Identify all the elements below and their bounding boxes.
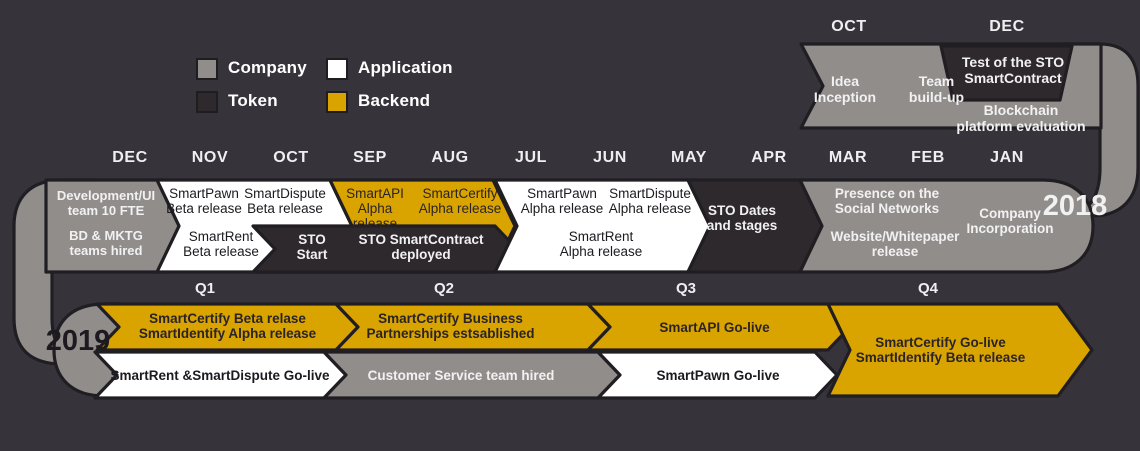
- legend-label-application: Application: [358, 58, 453, 78]
- item-sto-start: STO Start: [282, 232, 342, 262]
- month-label-jun-2018: JUN: [580, 149, 640, 167]
- item-smartapi-alpha: SmartAPI Alpha release: [334, 186, 416, 231]
- item-smartcertify-go-live-smartidentify-beta: SmartCertify Go-live SmartIdentify Beta …: [828, 335, 1053, 365]
- quarter-label-q2: Q2: [414, 280, 474, 297]
- item-smartrent-smartdispute-go-live: SmartRent &SmartDispute Go-live: [110, 368, 330, 383]
- month-label-aug-2018: AUG: [420, 149, 480, 167]
- item-smartpawn-alpha: SmartPawn Alpha release: [518, 186, 606, 216]
- item-idea-inception: Idea Inception: [800, 74, 890, 105]
- item-smartapi-go-live: SmartAPI Go-live: [612, 320, 817, 335]
- month-label-oct-2017: OCT: [809, 18, 889, 36]
- legend-label-company: Company: [228, 58, 307, 78]
- month-label-apr-2018: APR: [739, 149, 799, 167]
- month-label-jul-2018: JUL: [501, 149, 561, 167]
- month-label-nov-2018: NOV: [180, 149, 240, 167]
- legend-label-backend: Backend: [358, 91, 430, 111]
- item-website-whitepaper-release: Website/Whitepaper release: [820, 229, 970, 259]
- item-smartdispute-beta: SmartDispute Beta release: [238, 186, 332, 216]
- item-bd-mktg-teams-hired: BD & MKTG teams hired: [48, 229, 164, 258]
- month-label-sep-2018: SEP: [340, 149, 400, 167]
- timeline-diagram: .oc{stroke:#211e23;stroke-width:3.2;stro…: [0, 0, 1140, 451]
- item-blockchain-platform-evaluation: Blockchain platform evaluation: [946, 103, 1096, 134]
- item-development-ui-team: Development/UI team 10 FTE: [45, 189, 167, 218]
- month-label-feb-2018: FEB: [898, 149, 958, 167]
- item-test-sto-smartcontract: Test of the STO SmartContract: [948, 55, 1078, 86]
- company-swatch: [196, 58, 218, 80]
- year-label-2019: 2019: [33, 325, 123, 358]
- month-label-may-2018: MAY: [659, 149, 719, 167]
- item-smartpawn-beta: SmartPawn Beta release: [160, 186, 248, 216]
- backend-swatch: [326, 91, 348, 113]
- month-label-dec-2018: DEC: [100, 149, 160, 167]
- month-label-jan-2018: JAN: [977, 149, 1037, 167]
- item-company-incorporation: Company Incorporation: [955, 206, 1065, 236]
- token-swatch: [196, 91, 218, 113]
- item-smartrent-beta: SmartRent Beta release: [168, 229, 274, 259]
- item-sto-dates-and-stages: STO Dates and stages: [697, 203, 787, 233]
- item-smartcertify-beta-smartidentify-alpha: SmartCertify Beta relase SmartIdentify A…: [120, 311, 335, 341]
- quarter-label-q3: Q3: [656, 280, 716, 297]
- legend-label-token: Token: [228, 91, 278, 111]
- item-smartdispute-alpha: SmartDispute Alpha release: [603, 186, 697, 216]
- item-smartrent-alpha: SmartRent Alpha release: [543, 229, 659, 259]
- item-customer-service-team-hired: Customer Service team hired: [356, 368, 566, 383]
- quarter-label-q4: Q4: [898, 280, 958, 297]
- item-smartcertify-alpha: SmartCertify Alpha release: [412, 186, 508, 216]
- item-presence-social-networks: Presence on the Social Networks: [826, 186, 948, 216]
- application-swatch: [326, 58, 348, 80]
- item-smartcertify-business-partnerships: SmartCertify Business Partnerships estsa…: [348, 311, 553, 341]
- quarter-label-q1: Q1: [175, 280, 235, 297]
- month-label-oct-2018: OCT: [261, 149, 321, 167]
- item-smartpawn-go-live: SmartPawn Go-live: [618, 368, 818, 383]
- item-sto-smartcontract-deployed: STO SmartContract deployed: [348, 232, 494, 262]
- month-label-dec-2017: DEC: [967, 18, 1047, 36]
- month-label-mar-2018: MAR: [818, 149, 878, 167]
